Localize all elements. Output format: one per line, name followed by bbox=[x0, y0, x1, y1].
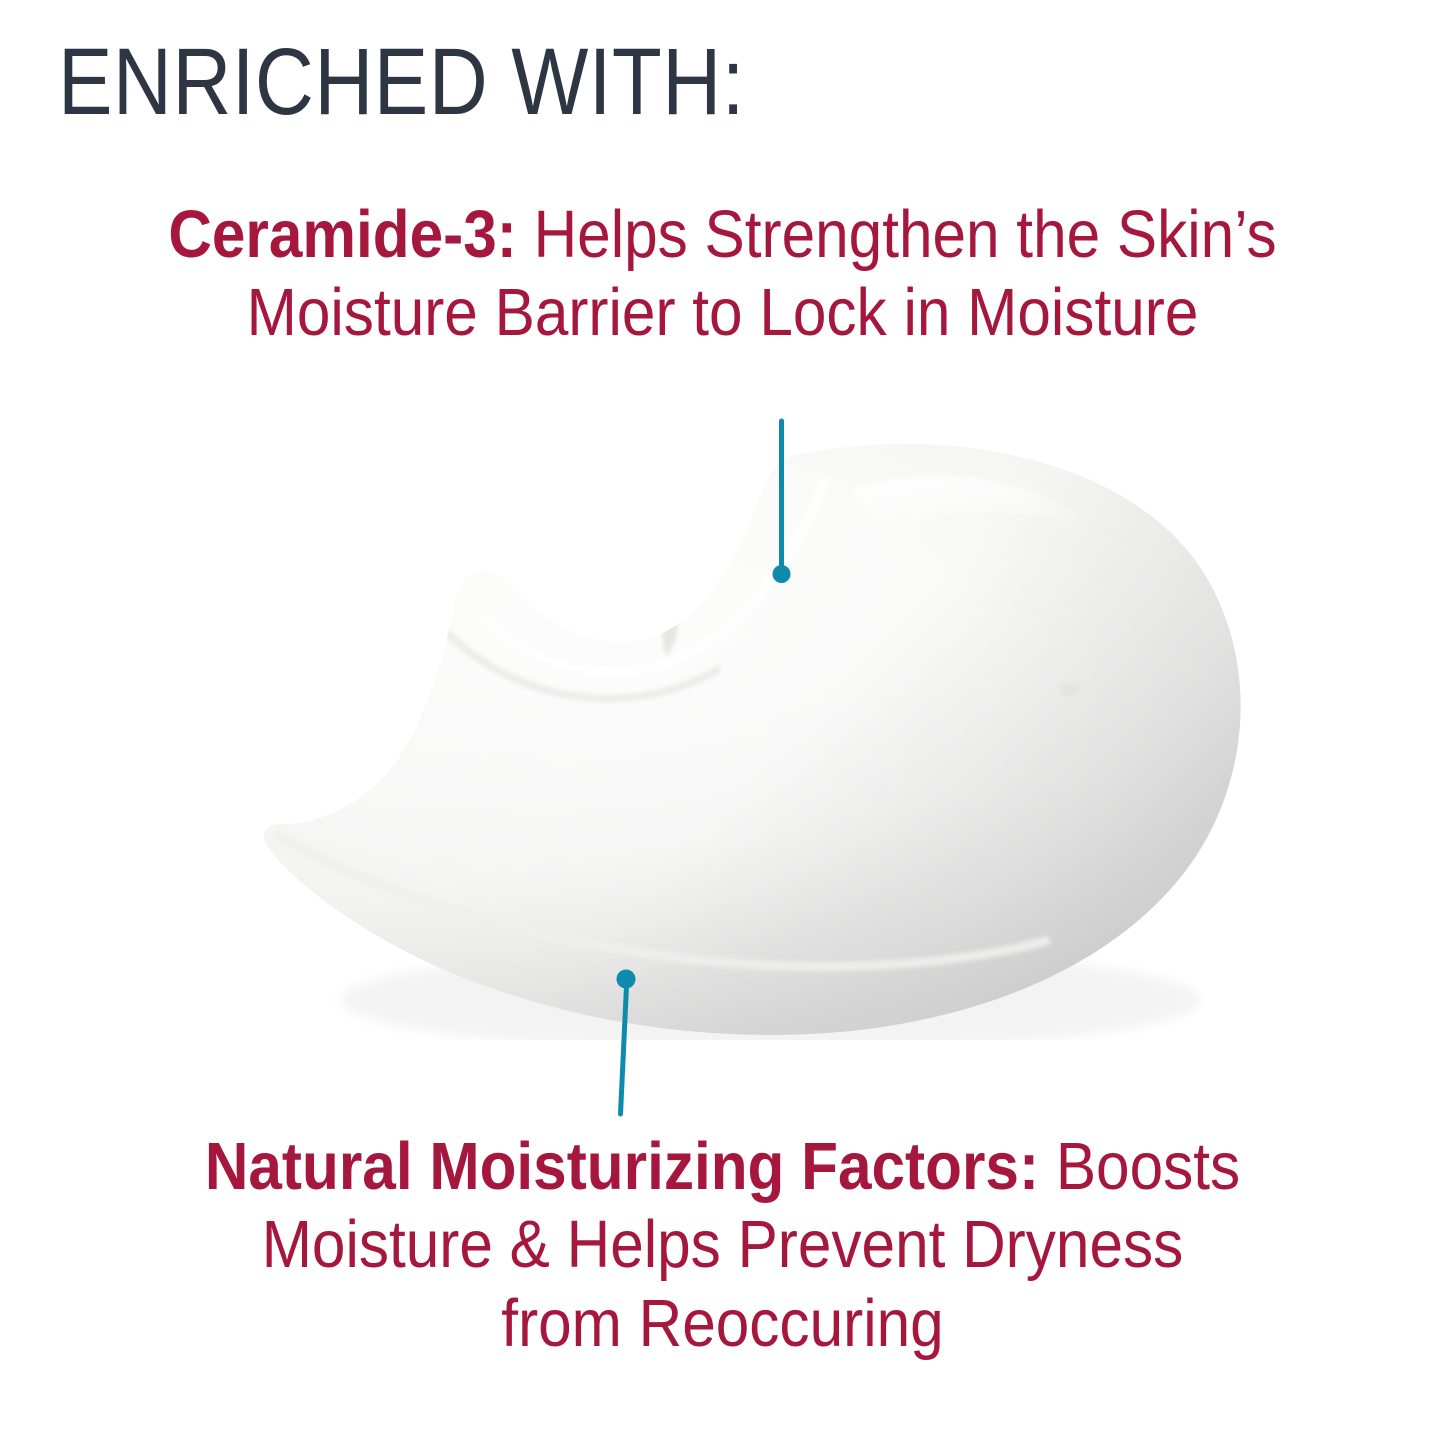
ingredient-ceramide-3: Ceramide-3: Helps Strengthen the Skin’s … bbox=[0, 196, 1445, 353]
swatch-body bbox=[264, 444, 1241, 1035]
swatch-shadow bbox=[340, 948, 1200, 1040]
swatch-speck bbox=[1060, 684, 1080, 696]
swatch-gloss-upper bbox=[850, 476, 1112, 542]
infographic-canvas: ENRICHED WITH: bbox=[0, 0, 1445, 1445]
swatch-drip-detail bbox=[662, 596, 678, 656]
ingredient-natural-moisturizing-factors: Natural Moisturizing Factors: Boosts Moi… bbox=[0, 1128, 1445, 1363]
callout-nmf-graphic bbox=[602, 962, 662, 1132]
swatch-bottom-shading bbox=[250, 420, 1250, 1040]
cream-swatch bbox=[250, 420, 1250, 1040]
ingredient-nmf-desc-1: Boosts bbox=[1039, 1129, 1240, 1204]
callout-ceramide-graphic bbox=[760, 410, 810, 600]
callout-ceramide-dot bbox=[773, 565, 791, 583]
ingredient-nmf-line-1: Natural Moisturizing Factors: Boosts bbox=[72, 1128, 1373, 1206]
callout-line-ceramide bbox=[760, 410, 810, 600]
callout-nmf-stem bbox=[621, 986, 627, 1114]
cream-swatch-graphic bbox=[250, 420, 1250, 1040]
swatch-ridge bbox=[446, 632, 720, 699]
ingredient-nmf-desc-2: Moisture & Helps Prevent Dryness bbox=[72, 1206, 1373, 1284]
callout-line-nmf bbox=[602, 962, 662, 1132]
ingredient-ceramide-3-desc-1: Helps Strengthen the Skin’s bbox=[517, 197, 1277, 272]
swatch-fold-lower bbox=[276, 834, 1050, 966]
ingredient-ceramide-3-desc-2: Moisture Barrier to Lock in Moisture bbox=[72, 274, 1373, 352]
ingredient-nmf-desc-3: from Reoccuring bbox=[72, 1285, 1373, 1363]
ingredient-ceramide-3-line-1: Ceramide-3: Helps Strengthen the Skin’s bbox=[72, 196, 1373, 274]
ingredient-ceramide-3-name: Ceramide-3: bbox=[168, 197, 517, 272]
ingredient-nmf-name: Natural Moisturizing Factors: bbox=[205, 1129, 1039, 1204]
swatch-rim-shading bbox=[250, 420, 1250, 1040]
page-title: ENRICHED WITH: bbox=[58, 34, 1210, 131]
